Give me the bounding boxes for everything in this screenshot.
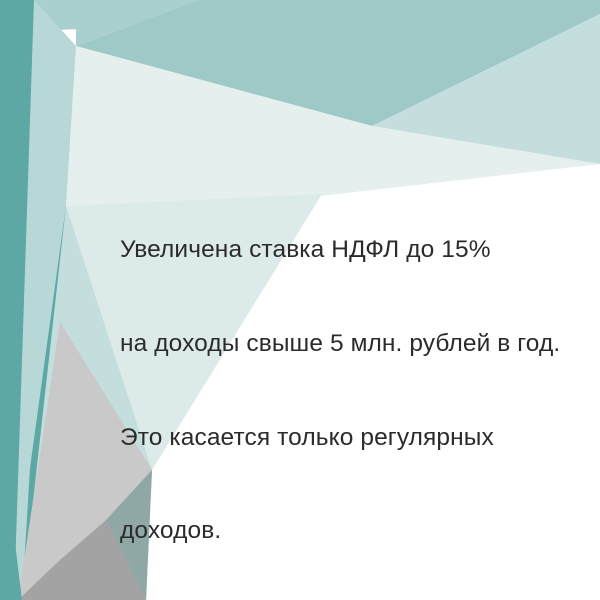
slide-body-text: Увеличена ставка НДФЛ до 15% на доходы с…: [120, 172, 560, 600]
body-line-2: на доходы свыше 5 млн. рублей в год.: [120, 328, 560, 359]
body-line-4: доходов.: [120, 515, 560, 546]
body-line-3: Это касается только регулярных: [120, 422, 560, 453]
body-line-1: Увеличена ставка НДФЛ до 15%: [120, 234, 560, 265]
slide-canvas: Увеличена ставка НДФЛ до 15% на доходы с…: [0, 0, 600, 600]
